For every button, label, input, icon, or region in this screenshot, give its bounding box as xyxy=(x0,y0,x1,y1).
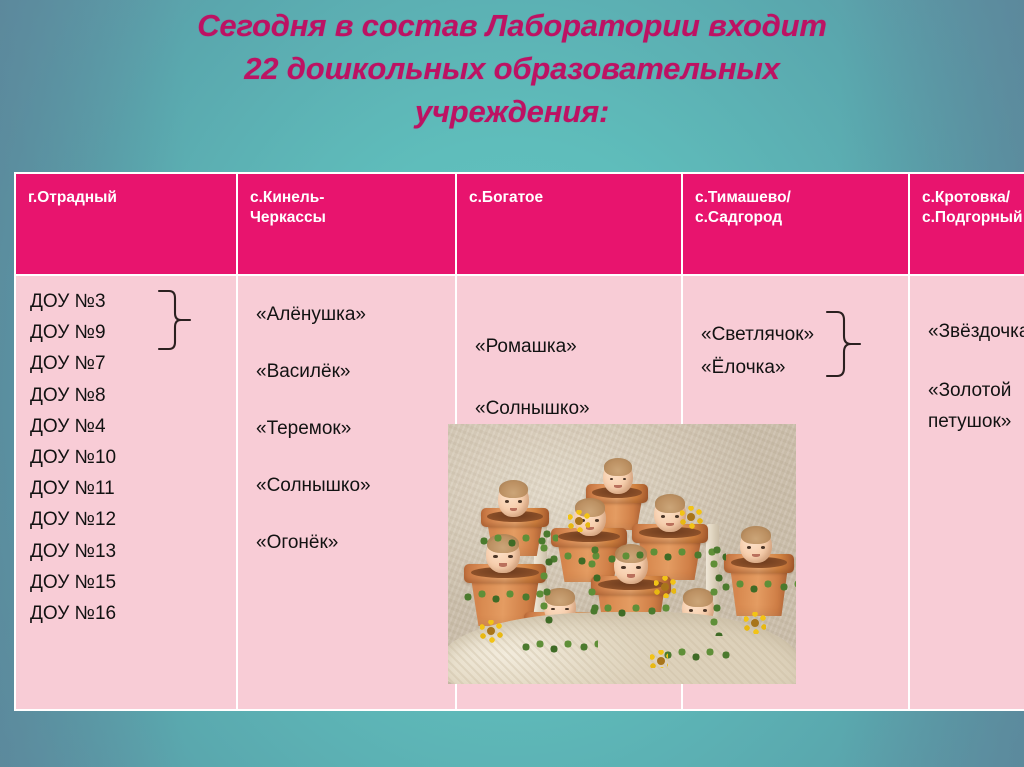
list-item: «Золотой xyxy=(928,375,1024,406)
column-header-kinel-cherkassy-line2: Черкассы xyxy=(250,209,326,226)
list-item: ДОУ №12 xyxy=(30,504,236,535)
page-title: Сегодня в состав Лаборатории входит 22 д… xyxy=(0,4,1024,133)
kindergarten-name-list: «Звёздочка» «Золотой петушок» xyxy=(910,276,1024,437)
list-item: «Солнышко» xyxy=(256,457,455,514)
dou-list: ДОУ №3 ДОУ №9 ДОУ №7 ДОУ №8 ДОУ №4 ДОУ №… xyxy=(16,276,236,629)
institutions-table-wrapper: г.Отрадный с.Кинель- Черкассы с.Богатое … xyxy=(14,172,1010,711)
cell-otradny: ДОУ №3 ДОУ №9 ДОУ №7 ДОУ №8 ДОУ №4 ДОУ №… xyxy=(15,275,237,710)
cell-kinel-cherkassy: «Алёнушка» «Василёк» «Теремок» «Солнышко… xyxy=(237,275,456,710)
column-header-krotovka-line2: с.Подгорный xyxy=(922,209,1023,226)
list-item: ДОУ №10 xyxy=(30,442,236,473)
kindergarten-name-list: «Алёнушка» «Василёк» «Теремок» «Солнышко… xyxy=(238,276,455,571)
slide-background: Сегодня в состав Лаборатории входит 22 д… xyxy=(0,0,1024,767)
column-header-bogatoe: с.Богатое xyxy=(456,173,682,275)
list-item: «Теремок» xyxy=(256,400,455,457)
cell-krotovka-podgorny: «Звёздочка» «Золотой петушок» xyxy=(909,275,1024,710)
title-line-2: 22 дошкольных образовательных xyxy=(0,47,1024,90)
list-item: «Ёлочка» xyxy=(701,351,908,384)
column-header-krotovka-line1: с.Кротовка/ xyxy=(922,189,1010,206)
column-header-kinel-cherkassy: с.Кинель- Черкассы xyxy=(237,173,456,275)
column-header-kinel-cherkassy-line1: с.Кинель- xyxy=(250,189,324,206)
list-item: ДОУ №13 xyxy=(30,536,236,567)
list-item: ДОУ №16 xyxy=(30,598,236,629)
list-item: ДОУ №8 xyxy=(30,380,236,411)
column-header-bogatoe-label: с.Богатое xyxy=(469,189,543,206)
column-header-otradny-label: г.Отрадный xyxy=(28,189,117,206)
column-header-timashevo-sadgorod: с.Тимашево/ с.Садгород xyxy=(682,173,909,275)
column-header-timashevo-line1: с.Тимашево/ xyxy=(695,189,791,206)
kindergarten-name-list: «Светлячок» «Ёлочка» xyxy=(683,276,908,384)
list-item: ДОУ №11 xyxy=(30,473,236,504)
title-line-1: Сегодня в состав Лаборатории входит xyxy=(0,4,1024,47)
list-item: ДОУ №4 xyxy=(30,411,236,442)
list-item: «Алёнушка» xyxy=(256,286,455,343)
list-item: «Огонёк» xyxy=(256,514,455,571)
list-item: петушок» xyxy=(928,406,1024,437)
column-header-otradny: г.Отрадный xyxy=(15,173,237,275)
list-item: «Звёздочка» xyxy=(928,316,1024,347)
babies-in-flowerpots-photo xyxy=(448,424,796,684)
list-item: «Светлячок» xyxy=(701,318,908,351)
kindergarten-name-list: «Ромашка» «Солнышко» xyxy=(457,276,681,440)
title-line-3: учреждения: xyxy=(0,90,1024,133)
column-header-krotovka-podgorny: с.Кротовка/ с.Подгорный xyxy=(909,173,1024,275)
list-item: «Ромашка» xyxy=(475,316,681,378)
list-item: «Василёк» xyxy=(256,343,455,400)
list-item: ДОУ №15 xyxy=(30,567,236,598)
column-header-timashevo-line2: с.Садгород xyxy=(695,209,782,226)
list-item: ДОУ №9 xyxy=(30,317,236,348)
table-header-row: г.Отрадный с.Кинель- Черкассы с.Богатое … xyxy=(15,173,1024,275)
table-header: г.Отрадный с.Кинель- Черкассы с.Богатое … xyxy=(15,173,1024,275)
list-item: ДОУ №3 xyxy=(30,286,236,317)
list-item: ДОУ №7 xyxy=(30,348,236,379)
